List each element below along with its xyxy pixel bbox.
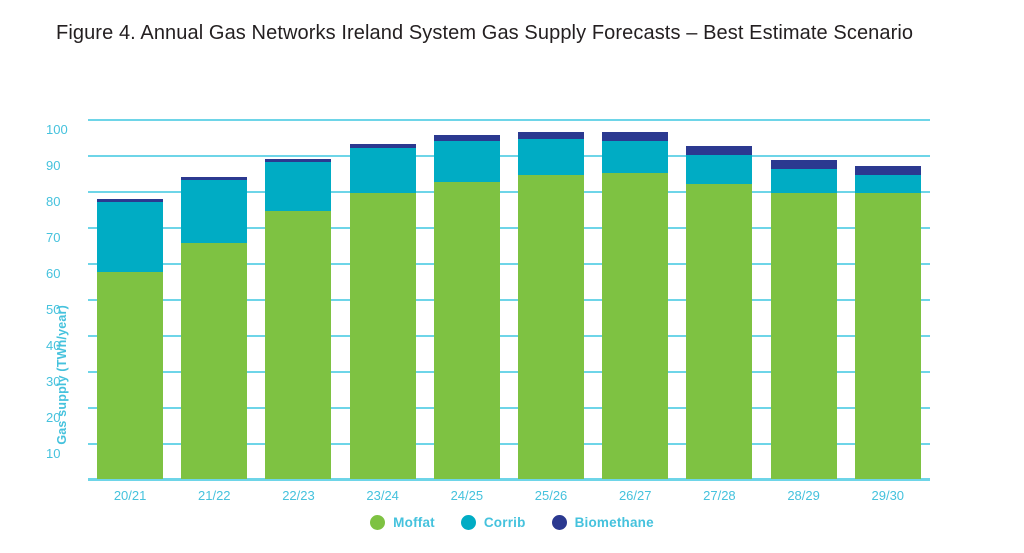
bar-stack[interactable] [686, 146, 752, 479]
y-tick-label-30: 30 [46, 374, 82, 389]
bar-stack[interactable] [771, 160, 837, 479]
legend-item-corrib[interactable]: Corrib [461, 515, 526, 530]
bar-segment-moffat[interactable] [97, 272, 163, 479]
chart-container: Gas supply (TWh/year) 100908070605040302… [0, 100, 1024, 553]
bar-segment-moffat[interactable] [771, 193, 837, 479]
bar-segment-moffat[interactable] [350, 193, 416, 479]
y-tick-label-50: 50 [46, 302, 82, 317]
bar-stack[interactable] [265, 159, 331, 479]
bar-segment-moffat[interactable] [181, 243, 247, 479]
legend-label: Biomethane [575, 515, 654, 530]
bar-column-26-27[interactable] [600, 119, 671, 479]
y-tick-label-40: 40 [46, 338, 82, 353]
bar-stack[interactable] [350, 144, 416, 479]
y-tick-label-90: 90 [46, 158, 82, 173]
bar-segment-corrib[interactable] [434, 141, 500, 182]
bar-stack[interactable] [434, 135, 500, 479]
y-tick-label-20: 20 [46, 410, 82, 425]
x-tick-label-25-26: 25/26 [516, 488, 587, 503]
bar-segment-biomethane[interactable] [602, 132, 668, 141]
x-tick-label-29-30: 29/30 [852, 488, 923, 503]
legend-item-moffat[interactable]: Moffat [370, 515, 435, 530]
bar-column-21-22[interactable] [179, 119, 250, 479]
bar-segment-moffat[interactable] [855, 193, 921, 479]
bar-segment-moffat[interactable] [518, 175, 584, 479]
bar-column-20-21[interactable] [95, 119, 166, 479]
x-tick-label-28-29: 28/29 [768, 488, 839, 503]
bar-column-28-29[interactable] [768, 119, 839, 479]
x-tick-label-22-23: 22/23 [263, 488, 334, 503]
bar-column-22-23[interactable] [263, 119, 334, 479]
bar-stack[interactable] [518, 132, 584, 479]
bar-column-23-24[interactable] [347, 119, 418, 479]
page-title: Figure 4. Annual Gas Networks Ireland Sy… [56, 16, 936, 50]
x-tick-label-21-22: 21/22 [179, 488, 250, 503]
y-tick-label-10: 10 [46, 446, 82, 461]
legend-dot-icon [552, 515, 567, 530]
bar-stack[interactable] [181, 177, 247, 479]
bar-segment-moffat[interactable] [434, 182, 500, 479]
plot-area: 100908070605040302010 [88, 119, 930, 479]
legend-dot-icon [370, 515, 385, 530]
bar-segment-moffat[interactable] [602, 173, 668, 479]
chart-legend: MoffatCorribBiomethane [0, 515, 1024, 530]
bar-segment-corrib[interactable] [686, 155, 752, 184]
legend-dot-icon [461, 515, 476, 530]
bar-segment-corrib[interactable] [265, 162, 331, 211]
bar-segment-moffat[interactable] [686, 184, 752, 479]
figure-page: Figure 4. Annual Gas Networks Ireland Sy… [0, 0, 1024, 553]
x-tick-label-20-21: 20/21 [95, 488, 166, 503]
bar-segment-biomethane[interactable] [518, 132, 584, 139]
bar-segment-biomethane[interactable] [686, 146, 752, 155]
y-tick-label-70: 70 [46, 230, 82, 245]
y-tick-label-100: 100 [46, 122, 82, 137]
bar-column-24-25[interactable] [431, 119, 502, 479]
x-axis-labels: 20/2121/2222/2323/2424/2525/2626/2727/28… [88, 488, 930, 503]
x-tick-label-26-27: 26/27 [600, 488, 671, 503]
y-tick-label-80: 80 [46, 194, 82, 209]
bar-column-27-28[interactable] [684, 119, 755, 479]
bar-stack[interactable] [602, 132, 668, 479]
legend-item-biomethane[interactable]: Biomethane [552, 515, 654, 530]
bar-stack[interactable] [855, 166, 921, 479]
bar-column-25-26[interactable] [516, 119, 587, 479]
x-tick-label-24-25: 24/25 [431, 488, 502, 503]
bar-segment-biomethane[interactable] [771, 160, 837, 169]
bar-segment-corrib[interactable] [181, 180, 247, 243]
legend-label: Corrib [484, 515, 526, 530]
x-tick-label-27-28: 27/28 [684, 488, 755, 503]
y-tick-label-60: 60 [46, 266, 82, 281]
bar-segment-corrib[interactable] [350, 148, 416, 193]
x-tick-label-23-24: 23/24 [347, 488, 418, 503]
bar-column-29-30[interactable] [852, 119, 923, 479]
bar-series-group [88, 119, 930, 479]
bar-stack[interactable] [97, 199, 163, 479]
bar-segment-corrib[interactable] [855, 175, 921, 193]
bar-segment-biomethane[interactable] [855, 166, 921, 175]
bar-segment-corrib[interactable] [602, 141, 668, 173]
bar-segment-corrib[interactable] [771, 169, 837, 192]
bar-segment-corrib[interactable] [518, 139, 584, 175]
legend-label: Moffat [393, 515, 435, 530]
bar-segment-corrib[interactable] [97, 202, 163, 272]
bar-segment-moffat[interactable] [265, 211, 331, 479]
